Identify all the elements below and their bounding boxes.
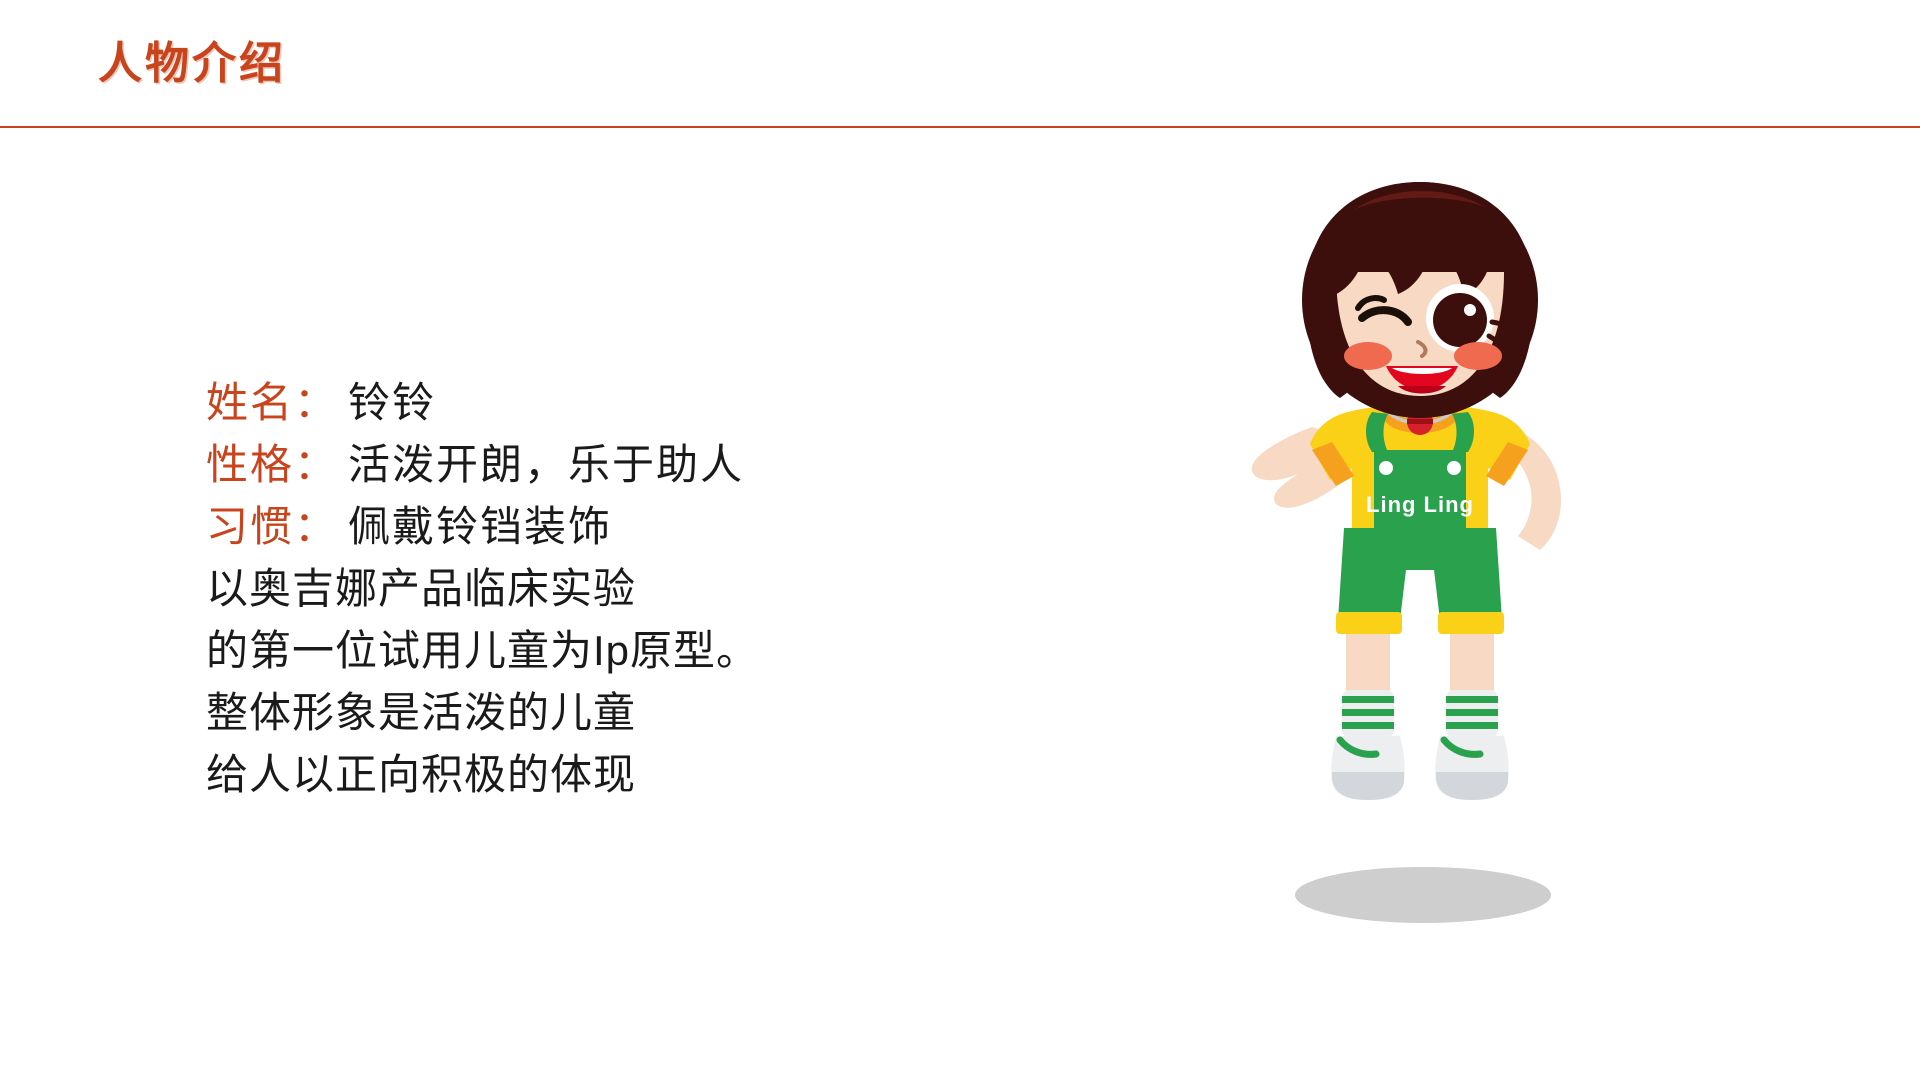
description-line-3: 整体形象是活泼的儿童 xyxy=(206,682,926,744)
right-shoe-shape xyxy=(1435,736,1509,800)
overalls-pants-shape xyxy=(1338,528,1502,620)
info-value-personality: 活泼开朗，乐于助人 xyxy=(348,434,744,496)
left-shoe-shape xyxy=(1331,736,1405,800)
page-title: 人物介绍 xyxy=(98,42,286,86)
right-sock-shape xyxy=(1446,690,1498,738)
pants-cuff-right xyxy=(1438,612,1504,634)
overalls-button-right xyxy=(1447,461,1461,475)
description-line-2: 的第一位试用儿童为Ip原型。 xyxy=(206,620,926,682)
left-cheek-shape xyxy=(1344,342,1392,370)
info-label-habit: 习惯： xyxy=(206,496,338,558)
slide-root: 人物介绍 姓名： 铃铃 性格： 活泼开朗，乐于助人 习惯： 佩戴铃铛装饰 以奥吉… xyxy=(0,0,1920,1081)
left-sock-shape xyxy=(1342,690,1394,738)
character-illustration: Ling Ling xyxy=(1140,150,1700,950)
info-label-personality: 性格： xyxy=(206,434,338,496)
info-row-personality: 性格： 活泼开朗，乐于助人 xyxy=(206,434,926,496)
right-cheek-shape xyxy=(1454,342,1502,370)
info-label-name: 姓名： xyxy=(206,372,338,434)
overalls-button-left xyxy=(1379,461,1393,475)
pants-cuff-left xyxy=(1336,612,1402,634)
description-line-4: 给人以正向积极的体现 xyxy=(206,744,926,806)
ground-shadow-shape xyxy=(1295,867,1551,923)
info-row-habit: 习惯： 佩戴铃铛装饰 xyxy=(206,496,926,558)
title-divider xyxy=(0,126,1920,128)
character-info-block: 姓名： 铃铃 性格： 活泼开朗，乐于助人 习惯： 佩戴铃铛装饰 以奥吉娜产品临床… xyxy=(206,372,926,806)
info-value-name: 铃铃 xyxy=(348,372,436,434)
chest-label: Ling Ling xyxy=(1366,492,1474,517)
info-row-name: 姓名： 铃铃 xyxy=(206,372,926,434)
description-line-1: 以奥吉娜产品临床实验 xyxy=(206,558,926,620)
info-value-habit: 佩戴铃铛装饰 xyxy=(348,496,612,558)
